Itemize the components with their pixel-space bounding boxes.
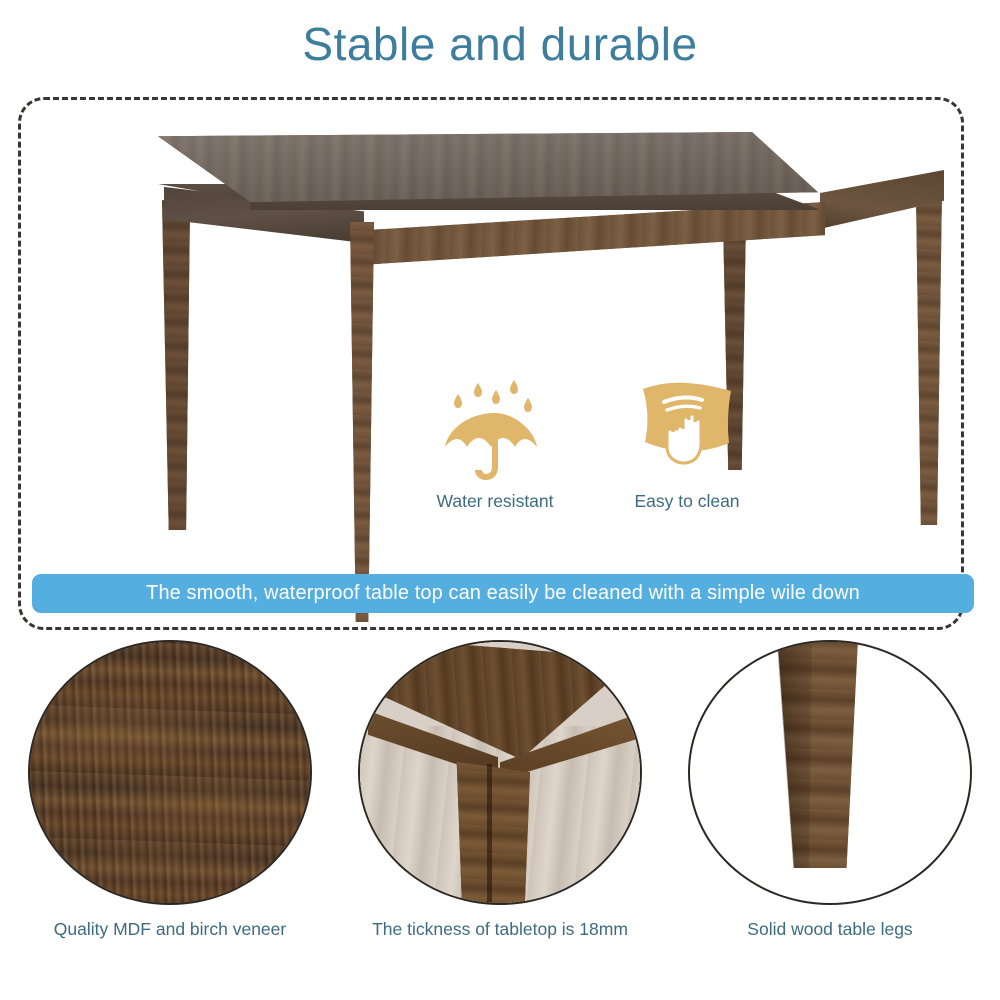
detail-card-thickness: The tickness of tabletop is 18mm	[354, 640, 646, 940]
detail-card-legs: Solid wood table legs	[684, 640, 976, 940]
feature-icon-row: Water resistant Easy to clean	[420, 360, 780, 540]
detail-caption: Solid wood table legs	[747, 919, 912, 940]
wood-grain-texture	[30, 642, 310, 903]
solid-wood-leg-shadow-face	[776, 640, 812, 868]
corner-scene-background	[360, 642, 640, 903]
table-apron-front	[355, 202, 825, 274]
hand-wiping-cloth-icon	[631, 360, 743, 485]
feature-water-resistant: Water resistant	[420, 360, 570, 540]
feature-label: Easy to clean	[634, 491, 739, 512]
feature-label: Water resistant	[436, 491, 553, 512]
umbrella-raindrops-icon	[436, 360, 554, 485]
detail-caption: Quality MDF and birch veneer	[54, 919, 286, 940]
detail-card-veneer: Quality MDF and birch veneer	[24, 640, 316, 940]
corner-leg-edge	[487, 764, 492, 905]
page-title: Stable and durable	[0, 14, 1000, 74]
feature-easy-to-clean: Easy to clean	[612, 360, 762, 540]
waterproof-banner: The smooth, waterproof table top can eas…	[32, 574, 974, 613]
table-corner-joint-closeup	[358, 640, 642, 905]
tabletop-surface	[158, 132, 818, 202]
detail-circles-row: Quality MDF and birch veneer The ticknes…	[0, 640, 1000, 940]
table-leg-closeup	[688, 640, 972, 905]
detail-caption: The tickness of tabletop is 18mm	[372, 919, 628, 940]
tabletop-wood-grain-closeup	[28, 640, 312, 905]
table-leg-back-left	[162, 200, 190, 530]
